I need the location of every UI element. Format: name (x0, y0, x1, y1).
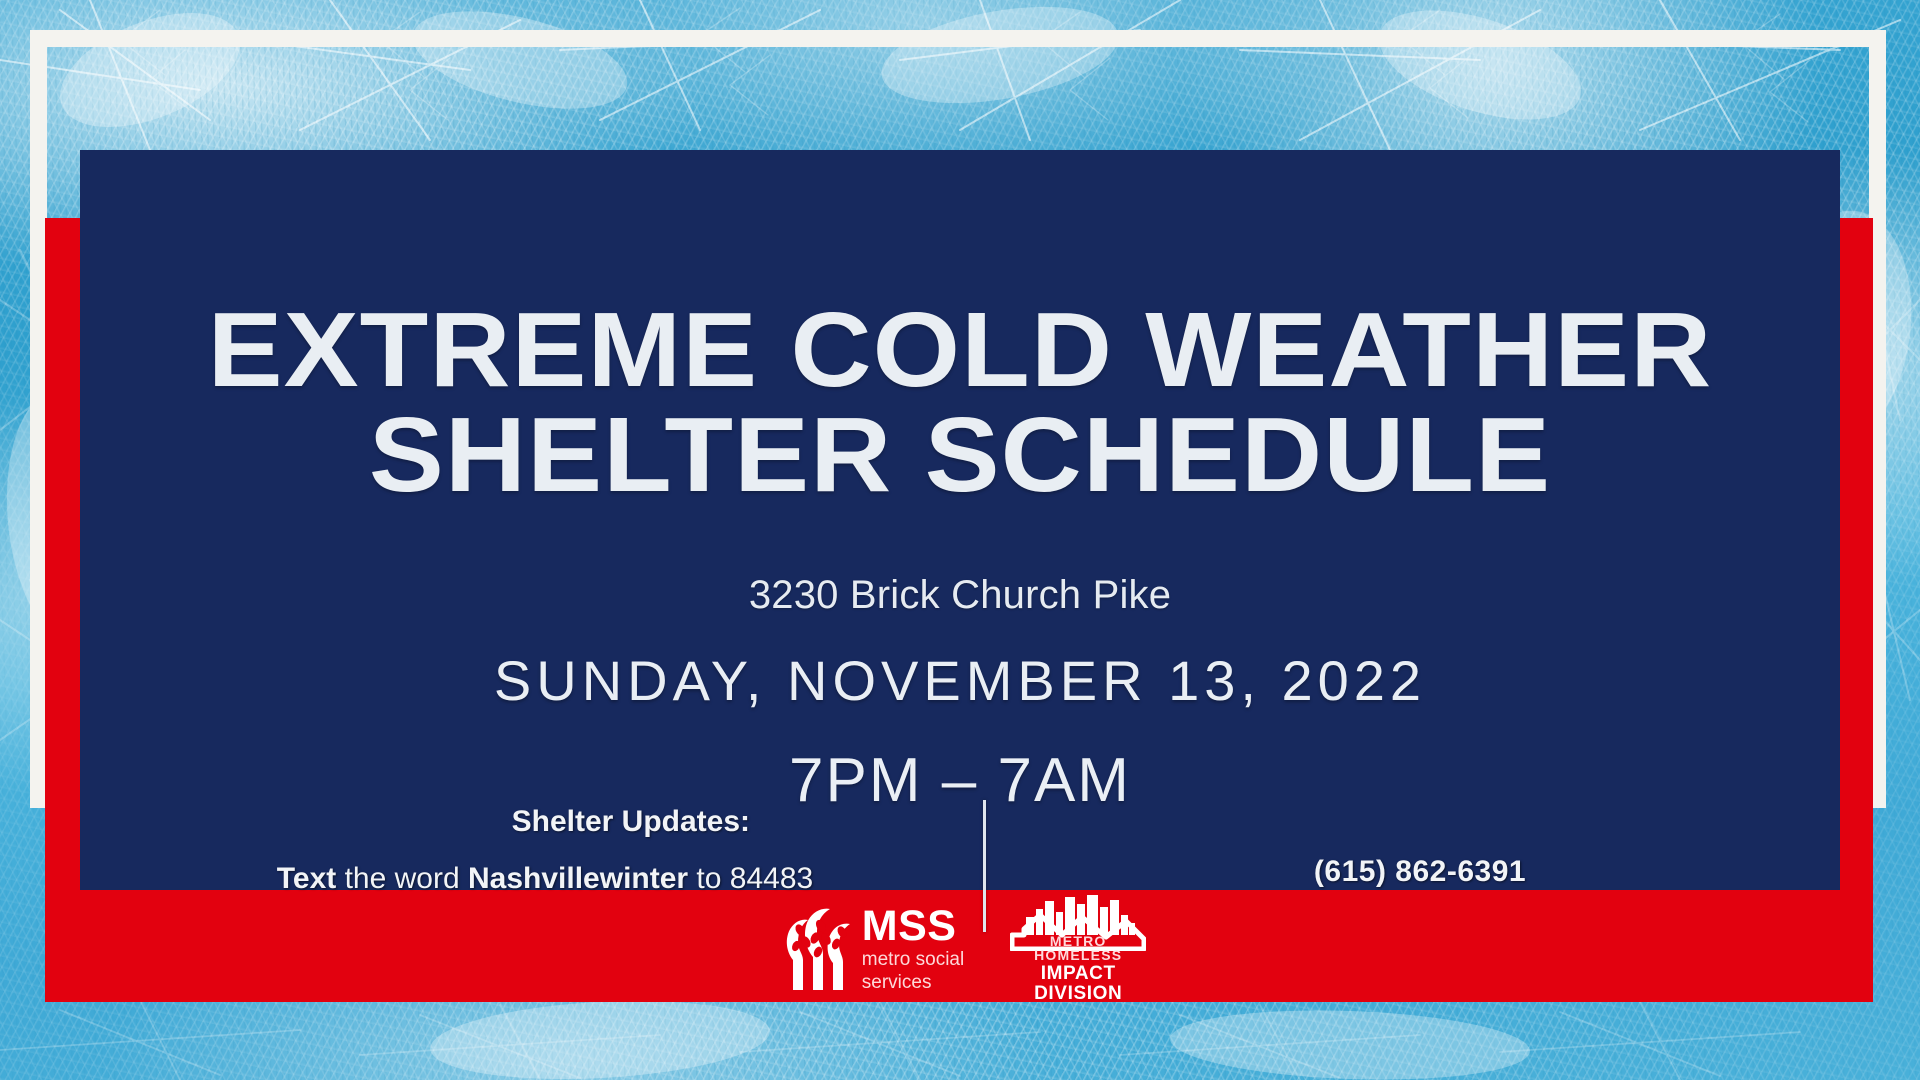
updates-keyword: Nashvillewinter (468, 862, 688, 895)
mss-tagline-line1: metro social (862, 950, 964, 971)
mss-logo: MSS metro social services (784, 905, 964, 993)
mss-initials: MSS (862, 905, 964, 948)
updates-text-mid: the word (336, 862, 468, 895)
mhid-line2: IMPACT DIVISION (1010, 964, 1146, 1004)
mss-wordmark: MSS metro social services (862, 905, 964, 993)
metro-homeless-impact-division-logo: METRO HOMELESS IMPACT DIVISION (1010, 895, 1146, 1004)
mss-tagline-line2: services (862, 973, 964, 994)
updates-text-suffix: to 84483 (688, 862, 813, 895)
shelter-address: 3230 Brick Church Pike (80, 573, 1840, 618)
page-title: EXTREME COLD WEATHER SHELTER SCHEDULE (27, 298, 1893, 508)
contact-phone-number: (615) 862-6391 (1020, 855, 1820, 889)
logo-strip: MSS metro social services (740, 900, 1190, 998)
shelter-updates-label: Shelter Updates: (330, 805, 750, 839)
three-trees-icon (784, 908, 852, 990)
broadcast-graphic: EXTREME COLD WEATHER SHELTER SCHEDULE 32… (0, 0, 1920, 1080)
shelter-date: SUNDAY, NOVEMBER 13, 2022 (80, 648, 1840, 713)
shelter-updates-instructions: Text the word Nashvillewinter to 84483 (170, 862, 920, 896)
updates-text-prefix: Text (277, 862, 336, 895)
